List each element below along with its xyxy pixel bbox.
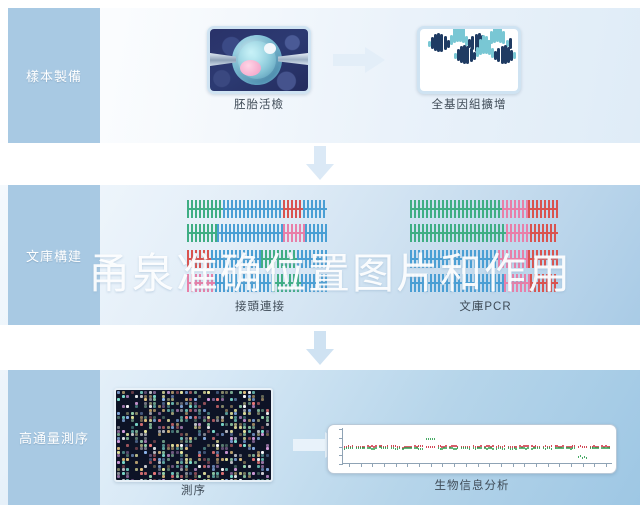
sequencing-read-dot bbox=[198, 458, 201, 461]
sequencing-read-dot bbox=[171, 465, 174, 468]
sequencing-read-dot bbox=[257, 461, 260, 464]
sequencing-read-dot bbox=[149, 444, 152, 447]
sequencing-read-dot bbox=[126, 437, 129, 440]
sequencing-read-dot bbox=[117, 447, 120, 450]
sequencing-read-dot bbox=[162, 447, 165, 450]
sequencing-read-dot bbox=[117, 461, 120, 464]
chart-x-tick bbox=[594, 463, 595, 467]
sequencing-read-dot bbox=[216, 419, 219, 422]
cnv-data-segment bbox=[430, 438, 431, 440]
sequencing-read-dot bbox=[140, 395, 143, 398]
sequencing-read-dot bbox=[243, 461, 246, 464]
sequencing-read-dot bbox=[149, 419, 152, 422]
sequencing-read-dot bbox=[230, 440, 233, 443]
sequencing-read-dot bbox=[122, 461, 125, 464]
sequencing-read-dot bbox=[153, 447, 156, 450]
sequencing-read-dot bbox=[126, 395, 129, 398]
sequencing-read-dot bbox=[207, 461, 210, 464]
sequencing-read-dot bbox=[153, 465, 156, 468]
sequencing-read-dot bbox=[162, 430, 165, 433]
cnv-data-segment bbox=[545, 445, 546, 447]
sequencing-read-dot bbox=[257, 454, 260, 457]
chart-x-tick bbox=[442, 463, 443, 467]
sequencing-read-dot bbox=[261, 468, 264, 471]
sequencing-read-dot bbox=[131, 454, 134, 457]
cnv-data-segment bbox=[597, 447, 598, 449]
stage-tab-high-throughput-sequencing[interactable]: 高通量測序 bbox=[8, 370, 100, 505]
sequencing-read-dot bbox=[158, 461, 161, 464]
sequencing-read-dot bbox=[257, 437, 260, 440]
sequencing-read-dot bbox=[158, 405, 161, 408]
cnv-data-segment bbox=[395, 445, 396, 447]
sequencing-read-dot bbox=[135, 433, 138, 436]
sequencing-read-dot bbox=[135, 454, 138, 457]
sequencing-read-dot bbox=[194, 468, 197, 471]
sequencing-read-dot bbox=[266, 447, 269, 450]
sequencing-read-dot bbox=[239, 444, 242, 447]
sequencing-read-dot bbox=[180, 391, 183, 394]
sequencing-read-dot bbox=[117, 391, 120, 394]
figure-caption: 生物信息分析 bbox=[327, 477, 617, 493]
cnv-data-segment bbox=[551, 445, 552, 447]
sequencing-read-dot bbox=[230, 412, 233, 415]
sequencing-read-dot bbox=[153, 458, 156, 461]
sequencing-read-dot bbox=[194, 461, 197, 464]
sequencing-read-dot bbox=[198, 426, 201, 429]
sequencing-read-dot bbox=[135, 461, 138, 464]
sequencing-read-dot bbox=[243, 444, 246, 447]
sequencing-read-dot bbox=[230, 405, 233, 408]
sequencing-read-dot bbox=[248, 475, 251, 478]
sequencing-read-dot bbox=[207, 391, 210, 394]
cnv-data-segment bbox=[504, 448, 505, 450]
cnv-data-segment bbox=[512, 448, 513, 450]
sequencing-read-dot bbox=[230, 416, 233, 419]
cnv-data-segment bbox=[584, 456, 585, 458]
arrow-head-icon bbox=[306, 164, 334, 180]
sequencing-read-dot bbox=[203, 447, 206, 450]
sequencing-read-dot bbox=[207, 465, 210, 468]
sequencing-read-dot bbox=[248, 419, 251, 422]
sequencing-read-dot bbox=[158, 419, 161, 422]
cnv-data-segment bbox=[358, 447, 359, 449]
sequencing-read-dot bbox=[167, 419, 170, 422]
sequencing-read-dot bbox=[266, 454, 269, 457]
sequencing-read-dot bbox=[180, 419, 183, 422]
sequencing-read-dot bbox=[225, 430, 228, 433]
sequencing-read-dot bbox=[212, 398, 215, 401]
sequencing-read-dot bbox=[230, 398, 233, 401]
sequencing-read-dot bbox=[167, 391, 170, 394]
sequencing-read-dot bbox=[158, 468, 161, 471]
sequencing-read-dot bbox=[189, 398, 192, 401]
chart-x-tick bbox=[524, 463, 525, 467]
sequencing-read-dot bbox=[162, 405, 165, 408]
chart-x-tick bbox=[501, 463, 502, 467]
biopsy-pipette-icon bbox=[278, 53, 308, 65]
chart-x-tick bbox=[536, 463, 537, 467]
sequencing-read-dot bbox=[261, 426, 264, 429]
sequencing-read-dot bbox=[171, 398, 174, 401]
sequencing-read-dot bbox=[162, 398, 165, 401]
sequencing-read-dot bbox=[216, 447, 219, 450]
sequencing-read-dot bbox=[252, 419, 255, 422]
sequencing-read-dot bbox=[243, 433, 246, 436]
sequencing-read-dot bbox=[153, 398, 156, 401]
sequencing-read-dot bbox=[261, 398, 264, 401]
sequencing-read-dot bbox=[117, 426, 120, 429]
stage-tab-label: 文庫構建 bbox=[26, 246, 82, 265]
chart-x-tick bbox=[513, 463, 514, 467]
sequencing-read-dot bbox=[153, 405, 156, 408]
cnv-data-segment bbox=[432, 438, 433, 440]
sequencing-read-dot bbox=[212, 430, 215, 433]
sequencing-read-dot bbox=[176, 475, 179, 478]
sequencing-read-dot bbox=[203, 419, 206, 422]
dna-fragment-diagram bbox=[410, 200, 558, 218]
chart-x-tick bbox=[478, 463, 479, 467]
sequencing-read-dot bbox=[252, 433, 255, 436]
sequencing-read-dot bbox=[140, 440, 143, 443]
sequencing-read-dot bbox=[225, 412, 228, 415]
chart-x-tick bbox=[407, 463, 408, 467]
sequencing-read-dot bbox=[243, 475, 246, 478]
sequencing-read-dot bbox=[153, 409, 156, 412]
chart-x-tick bbox=[454, 463, 455, 467]
cnv-data-segment bbox=[430, 446, 431, 448]
cnv-data-segment bbox=[492, 445, 493, 447]
cnv-data-segment bbox=[397, 448, 398, 450]
cnv-data-segment bbox=[590, 447, 591, 449]
sequencing-read-dot bbox=[225, 458, 228, 461]
sequencing-read-dot bbox=[216, 391, 219, 394]
sequencing-read-dot bbox=[230, 423, 233, 426]
sequencing-read-dot bbox=[171, 475, 174, 478]
sequencing-read-dot bbox=[194, 398, 197, 401]
workflow-diagram: 樣本製備 胚胎活檢 全基因組擴增 文庫構建 接頭連接 文庫PCR 甬泉准 bbox=[0, 0, 640, 513]
cnv-data-segment bbox=[410, 447, 411, 449]
sequencing-read-dot bbox=[248, 430, 251, 433]
sequencing-read-dot bbox=[162, 454, 165, 457]
sequencing-read-dot bbox=[216, 454, 219, 457]
sequencing-read-dot bbox=[239, 426, 242, 429]
sequencing-read-dot bbox=[140, 391, 143, 394]
sequencing-read-dot bbox=[117, 440, 120, 443]
sequencing-read-dot bbox=[234, 419, 237, 422]
sequencing-read-dot bbox=[153, 391, 156, 394]
sequencing-read-dot bbox=[135, 440, 138, 443]
stage-tab-library-construction[interactable]: 文庫構建 bbox=[8, 185, 100, 325]
sequencing-read-dot bbox=[117, 398, 120, 401]
sequencing-read-dot bbox=[243, 412, 246, 415]
arrow-shaft bbox=[314, 146, 326, 166]
cnv-data-segment bbox=[434, 446, 435, 448]
sequencing-read-dot bbox=[126, 416, 129, 419]
sequencing-read-dot bbox=[207, 475, 210, 478]
cnv-data-segment bbox=[395, 448, 396, 450]
cnv-data-segment bbox=[545, 448, 546, 450]
cnv-data-segment bbox=[438, 447, 439, 449]
sequencing-read-dot bbox=[239, 405, 242, 408]
arrow-shaft bbox=[333, 54, 367, 66]
sequencing-read-dot bbox=[221, 398, 224, 401]
cnv-data-segment bbox=[510, 448, 511, 450]
sequencing-read-dot bbox=[189, 416, 192, 419]
sequencing-read-dot bbox=[266, 468, 269, 471]
sequencing-read-dot bbox=[261, 416, 264, 419]
sequencing-read-dot bbox=[212, 468, 215, 471]
sequencing-read-dot bbox=[171, 426, 174, 429]
sequencing-read-dot bbox=[230, 451, 233, 454]
sequencing-read-dot bbox=[230, 461, 233, 464]
sequencing-read-dot bbox=[185, 398, 188, 401]
sequencing-read-dot bbox=[225, 468, 228, 471]
sequencing-read-dot bbox=[239, 458, 242, 461]
sequencing-read-dot bbox=[149, 426, 152, 429]
chart-x-tick bbox=[419, 463, 420, 467]
dna-helix-strand bbox=[454, 49, 514, 69]
sequencing-read-dot bbox=[144, 419, 147, 422]
sequencing-read-dot bbox=[203, 437, 206, 440]
sequencing-read-dot bbox=[144, 451, 147, 454]
sequencing-read-dot bbox=[171, 447, 174, 450]
sequencing-read-dot bbox=[158, 433, 161, 436]
arrow-head-icon bbox=[365, 47, 385, 73]
down-arrow-stage2-to-stage3 bbox=[306, 331, 334, 365]
sequencing-read-dot bbox=[203, 402, 206, 405]
sequencing-read-dot bbox=[162, 475, 165, 478]
sequencing-read-dot bbox=[243, 440, 246, 443]
sequencing-read-dot bbox=[239, 391, 242, 394]
sequencing-read-dot bbox=[207, 426, 210, 429]
chart-y-tick bbox=[339, 464, 343, 465]
embryo-biopsy-image bbox=[207, 26, 311, 94]
sequencing-read-dot bbox=[216, 461, 219, 464]
chart-y-tick bbox=[339, 447, 343, 448]
sequencing-read-dot bbox=[185, 402, 188, 405]
sequencing-read-dot bbox=[135, 423, 138, 426]
sequencing-read-dot bbox=[149, 391, 152, 394]
sequencing-read-dot bbox=[248, 412, 251, 415]
cnv-data-segment bbox=[393, 447, 394, 449]
figure-caption: 接頭連接 bbox=[185, 298, 335, 314]
chart-x-tick bbox=[396, 463, 397, 467]
cnv-data-segment bbox=[549, 447, 550, 449]
chart-x-tick bbox=[606, 463, 607, 467]
sequencing-read-dot bbox=[167, 409, 170, 412]
sequencing-read-dot bbox=[257, 412, 260, 415]
sequencing-read-dot bbox=[171, 454, 174, 457]
chart-x-tick bbox=[559, 463, 560, 467]
sequencing-read-dot bbox=[149, 398, 152, 401]
sequencing-read-dot bbox=[221, 468, 224, 471]
sequencing-read-dot bbox=[162, 461, 165, 464]
sequencing-read-dot bbox=[261, 461, 264, 464]
cnv-data-segment bbox=[422, 448, 423, 450]
sequencing-read-dot bbox=[230, 444, 233, 447]
cnv-data-segment bbox=[469, 448, 470, 450]
chart-x-tick bbox=[466, 463, 467, 467]
sequencing-read-dot bbox=[243, 465, 246, 468]
sequencing-read-dot bbox=[180, 468, 183, 471]
sequencing-read-dot bbox=[122, 405, 125, 408]
sequencing-read-dot bbox=[225, 447, 228, 450]
sequencing-read-dot bbox=[252, 472, 255, 475]
sequencing-read-dot bbox=[126, 458, 129, 461]
sequencing-read-dot bbox=[162, 416, 165, 419]
sequencing-read-dot bbox=[212, 444, 215, 447]
sequencing-read-dot bbox=[140, 468, 143, 471]
sequencing-read-dot bbox=[230, 391, 233, 394]
sequencing-read-dot bbox=[198, 475, 201, 478]
inner-cell-mass-shape bbox=[240, 60, 261, 76]
cnv-data-segment bbox=[457, 447, 458, 449]
sequencing-read-dot bbox=[207, 430, 210, 433]
sequencing-read-dot bbox=[144, 447, 147, 450]
sequencing-read-dot bbox=[131, 391, 134, 394]
sequencing-read-dot bbox=[239, 454, 242, 457]
cnv-data-segment bbox=[584, 446, 585, 448]
sequencing-read-dot bbox=[207, 398, 210, 401]
sequencing-read-dot bbox=[185, 412, 188, 415]
sequencing-read-dot bbox=[239, 433, 242, 436]
sequencing-read-dot bbox=[140, 412, 143, 415]
sequencing-read-dot bbox=[225, 451, 228, 454]
sequencing-read-dot bbox=[257, 402, 260, 405]
stage-tab-sample-preparation[interactable]: 樣本製備 bbox=[8, 8, 100, 143]
sequencing-read-dot bbox=[126, 454, 129, 457]
chart-y-tick bbox=[339, 429, 343, 430]
figure-whole-genome-amplification: 全基因組擴增 bbox=[417, 26, 521, 94]
sequencing-read-dot bbox=[248, 465, 251, 468]
figure-caption: 胚胎活檢 bbox=[207, 96, 311, 112]
figure-embryo-biopsy: 胚胎活檢 bbox=[207, 26, 311, 94]
sequencing-read-dot bbox=[180, 440, 183, 443]
sequencing-read-dot bbox=[216, 433, 219, 436]
sequencing-read-dot bbox=[248, 398, 251, 401]
sequencing-read-dot bbox=[266, 419, 269, 422]
sequencing-read-dot bbox=[185, 419, 188, 422]
sequencing-read-dot bbox=[257, 433, 260, 436]
sequencing-read-dot bbox=[216, 398, 219, 401]
sequencing-read-dot bbox=[140, 419, 143, 422]
sequencing-read-dot bbox=[257, 419, 260, 422]
sequencing-read-dot bbox=[266, 412, 269, 415]
figure-caption: 全基因組擴增 bbox=[417, 96, 521, 112]
chart-x-tick bbox=[431, 463, 432, 467]
chart-x-tick bbox=[489, 463, 490, 467]
sequencing-read-dot bbox=[189, 405, 192, 408]
sequencing-read-dot bbox=[243, 391, 246, 394]
sequencing-read-dot bbox=[158, 412, 161, 415]
sequencing-read-dot bbox=[212, 475, 215, 478]
sequencing-read-dot bbox=[176, 430, 179, 433]
sequencing-read-dot bbox=[171, 402, 174, 405]
cnv-data-segment bbox=[363, 447, 364, 449]
cnv-data-segment bbox=[399, 447, 400, 449]
sequencing-read-dot bbox=[189, 461, 192, 464]
cnv-data-segment bbox=[434, 438, 435, 440]
sequencing-read-dot bbox=[198, 405, 201, 408]
sequencing-read-dot bbox=[261, 433, 264, 436]
sequencing-read-dot bbox=[198, 465, 201, 468]
sequencing-read-dot bbox=[221, 419, 224, 422]
sequencing-read-dot bbox=[248, 426, 251, 429]
chart-x-tick bbox=[361, 463, 362, 467]
figure-caption: 文庫PCR bbox=[408, 298, 563, 314]
sequencing-read-dot bbox=[252, 398, 255, 401]
cnv-plot-image bbox=[327, 424, 617, 474]
stage-tab-label: 高通量測序 bbox=[19, 428, 89, 447]
sequencing-read-dot bbox=[252, 391, 255, 394]
sequencing-read-dot bbox=[144, 465, 147, 468]
sequencing-read-dot bbox=[266, 475, 269, 478]
figure-bioinformatics-analysis: 生物信息分析 bbox=[327, 424, 617, 474]
sequencing-read-dot bbox=[261, 409, 264, 412]
cnv-data-segment bbox=[445, 447, 446, 449]
cnv-data-segment bbox=[527, 447, 528, 449]
sequencing-read-dot bbox=[153, 454, 156, 457]
sequencing-read-dot bbox=[153, 440, 156, 443]
sequencing-read-dot bbox=[131, 433, 134, 436]
cnv-data-segment bbox=[609, 447, 610, 449]
sequencing-read-dot bbox=[198, 416, 201, 419]
sequencing-read-dot bbox=[149, 405, 152, 408]
sequencing-read-dot bbox=[153, 472, 156, 475]
sequencing-read-dot bbox=[149, 461, 152, 464]
sequencing-read-dot bbox=[225, 391, 228, 394]
cnv-data-segment bbox=[352, 447, 353, 449]
sequencing-read-dot bbox=[135, 405, 138, 408]
sequencing-read-dot bbox=[126, 405, 129, 408]
sequencing-read-dot bbox=[144, 398, 147, 401]
sequencing-read-dot bbox=[144, 440, 147, 443]
sequencing-read-dot bbox=[126, 433, 129, 436]
sequencing-read-dot bbox=[234, 475, 237, 478]
sequencing-read-dot bbox=[252, 447, 255, 450]
sequencing-read-dot bbox=[185, 391, 188, 394]
cnv-data-segment bbox=[547, 447, 548, 449]
sequencing-read-dot bbox=[180, 475, 183, 478]
sequencing-read-dot bbox=[194, 391, 197, 394]
down-arrow-stage1-to-stage2 bbox=[306, 146, 334, 180]
sequencing-read-dot bbox=[212, 419, 215, 422]
sequencing-read-dot bbox=[144, 433, 147, 436]
sequencing-read-dot bbox=[252, 426, 255, 429]
sequencing-read-dot bbox=[234, 412, 237, 415]
sequencing-read-dot bbox=[167, 430, 170, 433]
sequencing-read-dot bbox=[117, 412, 120, 415]
cnv-data-segment bbox=[387, 447, 388, 449]
sequencing-read-dot bbox=[176, 419, 179, 422]
sequencing-read-dot bbox=[171, 430, 174, 433]
sequencing-read-dot bbox=[144, 472, 147, 475]
sequencing-read-dot bbox=[158, 451, 161, 454]
sequencing-read-dot bbox=[203, 391, 206, 394]
sequencing-read-dot bbox=[248, 447, 251, 450]
sequencing-read-dot bbox=[185, 461, 188, 464]
sequencing-read-dot bbox=[149, 475, 152, 478]
sequencing-read-dot bbox=[248, 437, 251, 440]
sequencing-read-dot bbox=[162, 391, 165, 394]
cnv-data-segment bbox=[360, 447, 361, 449]
sequencing-read-dot bbox=[149, 412, 152, 415]
sequencing-read-dot bbox=[203, 409, 206, 412]
sequencing-read-dot bbox=[221, 405, 224, 408]
sequencing-read-dot bbox=[167, 447, 170, 450]
sequencing-read-dot bbox=[126, 444, 129, 447]
sequencing-read-dot bbox=[122, 451, 125, 454]
